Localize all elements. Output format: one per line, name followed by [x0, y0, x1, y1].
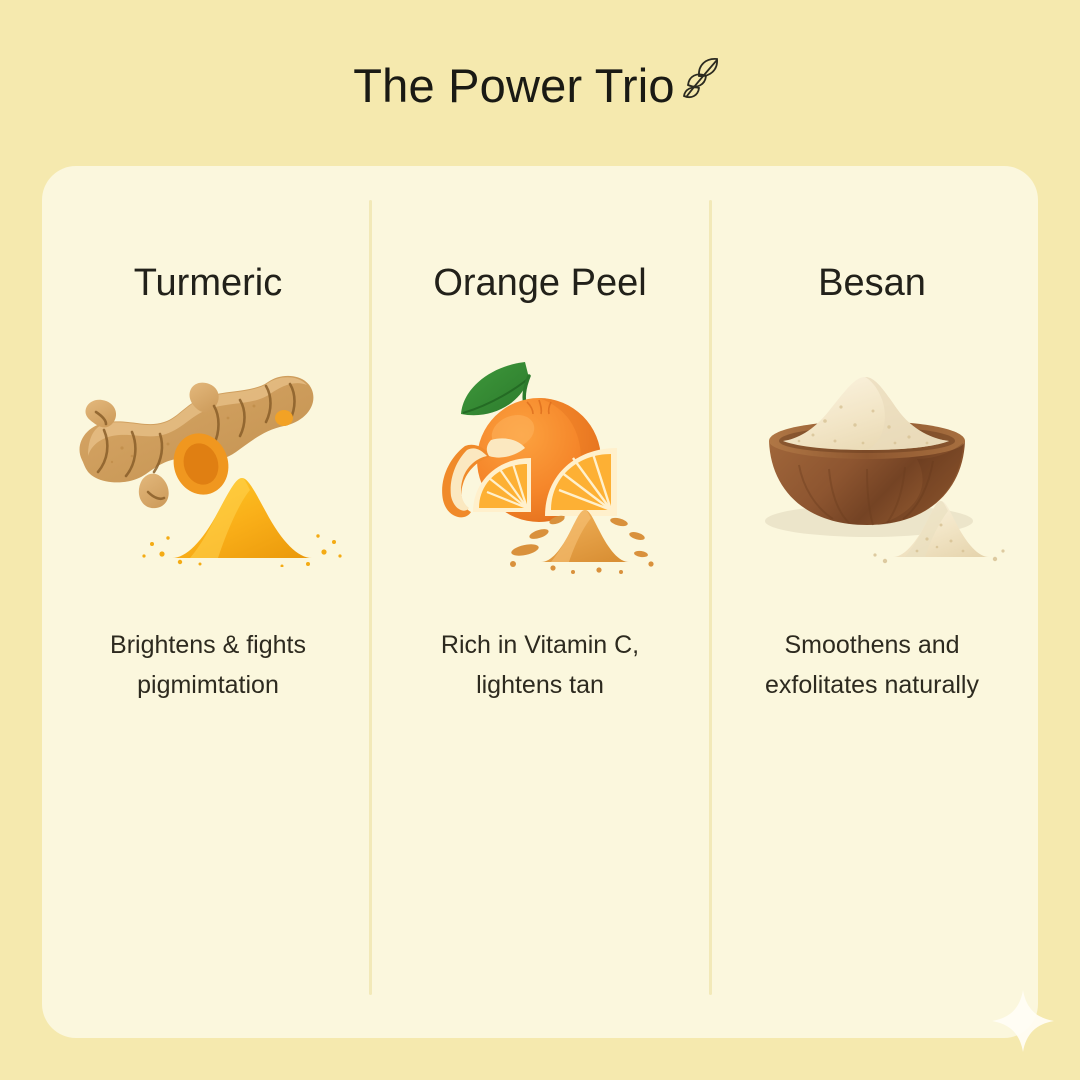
ingredient-title: Orange Peel [433, 264, 646, 302]
ingredients-card: Turmeric [42, 166, 1038, 1038]
ingredient-description: Rich in Vitamin C, lightens tan [395, 626, 685, 705]
wooden-bowl-of-besan-flour-illustration [722, 344, 1022, 574]
poster-root: The Power Trio Turmeric [0, 0, 1080, 1080]
orange-fruit-peel-and-powder-illustration [390, 344, 690, 574]
four-point-sparkle-icon [990, 988, 1056, 1059]
page-title: The Power Trio [0, 62, 1080, 109]
ingredient-title: Besan [818, 264, 926, 302]
page-title-text: The Power Trio [353, 62, 674, 109]
ingredient-description: Smoothens and exfolitates naturally [727, 626, 1017, 705]
ingredient-title: Turmeric [134, 264, 282, 302]
leaf-sprig-icon [677, 50, 727, 107]
ingredient-column-orange-peel: Orange Peel [374, 166, 706, 1038]
ingredient-column-besan: Besan [706, 166, 1038, 1038]
ingredient-column-turmeric: Turmeric [42, 166, 374, 1038]
ingredient-columns: Turmeric [42, 166, 1038, 1038]
ingredient-description: Brightens & fights pigmimtation [63, 626, 353, 705]
turmeric-root-and-powder-illustration [58, 344, 358, 574]
